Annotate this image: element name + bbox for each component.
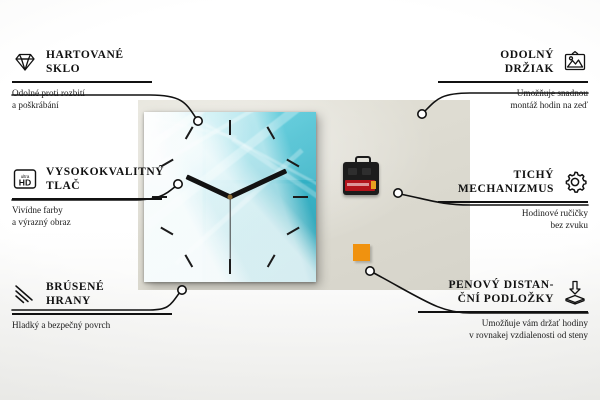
- feature-hardened-glass[interactable]: HARTOVANÉ SKLO Odolné proti rozbití a po…: [12, 48, 152, 111]
- clock-hand-hub: [228, 195, 233, 200]
- feature-subtitle-line1: Umožňuje snadnou: [438, 87, 588, 99]
- feature-ground-edges[interactable]: BRÚSENÉ HRANY Hladký a bezpečný povrch: [12, 280, 172, 331]
- feature-title-line2: TLAČ: [46, 179, 164, 193]
- clock-second-hand: [229, 197, 230, 259]
- feature-high-quality-print[interactable]: ultra HD VYSOKOKVALITNÝ TLAČ Vivídne far…: [12, 165, 162, 228]
- feature-subtitle-line1: Odolné proti rozbití: [12, 87, 152, 99]
- feature-title-line2: HRANY: [46, 294, 104, 308]
- clock-tick: [293, 196, 308, 198]
- feature-subtitle-line1: Hladký a bezpečný povrch: [12, 319, 172, 331]
- picture-hanger-icon: [562, 49, 588, 75]
- ultra-hd-icon: ultra HD: [12, 166, 38, 192]
- foam-spacer-pad: [353, 244, 370, 261]
- feature-title-line2: MECHANIZMUS: [458, 182, 554, 196]
- mechanism-detail: [348, 168, 357, 175]
- feature-subtitle-line2: a poškrábání: [12, 99, 152, 111]
- battery-positive-terminal: [371, 181, 376, 189]
- battery-label-stripe: [347, 183, 369, 186]
- feature-subtitle-line1: Vivídne farby: [12, 204, 162, 216]
- feature-subtitle-line2: v rovnakej vzdialenosti od steny: [418, 329, 588, 341]
- infographic-canvas: HARTOVANÉ SKLO Odolné proti rozbití a po…: [0, 0, 600, 400]
- mechanism-detail: [362, 168, 371, 175]
- feature-title-line1: HARTOVANÉ: [46, 48, 124, 62]
- feature-foam-spacers[interactable]: PENOVÝ DISTAN- ČNÍ PODLOŽKY Umožňuje vám…: [418, 278, 588, 341]
- feature-title-line2: DRŽIAK: [500, 62, 554, 76]
- gear-icon: [562, 169, 588, 195]
- foam-spacer-icon: [562, 279, 588, 305]
- feature-title-line1: BRÚSENÉ: [46, 280, 104, 294]
- feature-title-line2: SKLO: [46, 62, 124, 76]
- feature-title-line1: TICHÝ: [458, 168, 554, 182]
- feature-durable-hanger[interactable]: ODOLNÝ DRŽIAK Umožňuje snadnou montáž ho…: [438, 48, 588, 111]
- feature-subtitle-line1: Umožňuje vám držať hodiny: [418, 317, 588, 329]
- clock-tick: [229, 259, 231, 274]
- feature-subtitle-line2: bez zvuku: [438, 219, 588, 231]
- feature-divider: [12, 313, 172, 315]
- feature-subtitle-line1: Hodinové ručičky: [438, 207, 588, 219]
- feature-title-line1: VYSOKOKVALITNÝ: [46, 165, 164, 179]
- ultra-hd-icon-main-text: HD: [19, 178, 31, 188]
- feature-divider: [438, 81, 588, 83]
- glass-wall-clock: [144, 112, 316, 282]
- feature-title-line2: ČNÍ PODLOŽKY: [448, 292, 554, 306]
- feature-subtitle-line2: montáž hodin na zeď: [438, 99, 588, 111]
- diamond-icon: [12, 49, 38, 75]
- clock-tick: [229, 120, 231, 135]
- feature-divider: [438, 201, 588, 203]
- clock-mechanism: [341, 156, 381, 196]
- product-photo: [138, 100, 470, 290]
- feature-divider: [12, 198, 162, 200]
- ground-edges-icon: [12, 281, 38, 307]
- feature-divider: [418, 311, 588, 313]
- feature-silent-mechanism[interactable]: TICHÝ MECHANIZMUS Hodinové ručičky bez z…: [438, 168, 588, 231]
- feature-subtitle-line2: a výrazný obraz: [12, 216, 162, 228]
- feature-divider: [12, 81, 152, 83]
- feature-title-line1: PENOVÝ DISTAN-: [448, 278, 554, 292]
- feature-title-line1: ODOLNÝ: [500, 48, 554, 62]
